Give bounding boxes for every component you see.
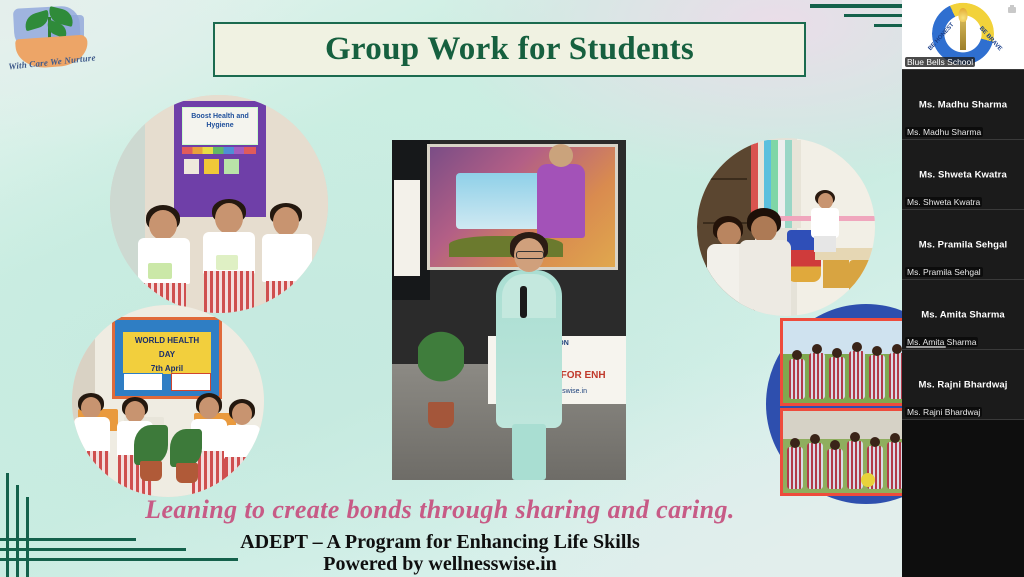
board-sign: Boost Health and Hygiene [182,107,258,145]
poster-date: 7th April [123,360,211,374]
student-uniform-bottom [814,236,836,252]
decor-line [844,14,902,17]
page-title: Group Work for Students [215,24,804,75]
participant-tile-pramila-sehgal[interactable]: Ms. Pramila Sehgal Ms. Pramila Sehgal [902,210,1024,280]
slide-caption-program: ADEPT – A Program for Enhancing Life Ski… [0,531,880,554]
board-square [184,159,199,174]
student-figure [222,399,262,497]
mute-icon[interactable] [1007,5,1018,14]
student-head [125,401,145,423]
student-uniform-bottom [225,457,259,497]
presenter-trousers [512,424,546,480]
student-figure [889,353,902,399]
participant-name-center: Ms. Shweta Kwatra [902,169,1024,180]
participant-tile-amita-sharma[interactable]: Ms. Amita Sharma Ms. Amita Sharma [902,280,1024,350]
slide-caption-script: Leaning to create bonds through sharing … [0,495,880,525]
ball-icon [861,473,875,487]
with-care-we-nurture-logo: With Care We Nurture [4,1,100,85]
student-head [81,397,101,419]
plant-pot [176,463,198,483]
student-figure [809,190,841,252]
poster-subtitle: DAY [123,346,211,360]
collage-photo-top [780,318,902,406]
plant-pot [428,402,454,428]
participant-tile-madhu-sharma[interactable]: Ms. Madhu Sharma Ms. Madhu Sharma [902,70,1024,140]
noticeboard [394,180,420,276]
photo-world-health-day: WORLD HEALTH DAY 7th April [72,305,264,497]
presenter-dupatta [502,274,556,318]
shared-slide: With Care We Nurture Group Work for Stud… [0,0,902,577]
student-figure [849,351,865,399]
student-figure [809,353,825,399]
participant-name-label: Ms. Pramila Sehgal [905,267,983,277]
student-figure [787,447,803,489]
classroom-chair [849,260,875,294]
student-figure [887,442,902,489]
board-color-strip [182,147,256,154]
poster-card [171,373,211,391]
student-held-card [216,255,238,270]
slide-title-box: Group Work for Students [213,22,806,77]
flame-icon [959,8,968,22]
participant-name-label: Ms. Madhu Sharma [905,127,983,137]
screen-illustrated-person [537,164,585,238]
slide-caption-powered: Powered by wellnesswise.in [0,553,880,576]
mute-icon-body [1008,7,1016,13]
student-head [232,403,252,425]
participant-tile-shweta-kwatra[interactable]: Ms. Shweta Kwatra Ms. Shweta Kwatra [902,140,1024,210]
student-figure [789,359,805,399]
student-figure [827,449,843,489]
filmstrip-scrollbar[interactable] [906,346,946,348]
world-health-day-poster: WORLD HEALTH DAY 7th April [112,317,222,399]
presenter-figure [492,238,566,480]
student-figure [262,203,316,313]
photo-students-hygiene: Boost Health and Hygiene [110,95,328,313]
student-figure [72,393,112,497]
student-head [199,397,219,419]
board-square [224,159,239,174]
student-uniform-top [74,417,110,453]
photo-classroom [697,138,875,316]
potted-plant [134,425,168,465]
student-uniform-top [811,208,839,238]
poster-banner: WORLD HEALTH DAY 7th April [123,332,211,374]
participant-name-label: Ms. Shweta Kwatra [905,197,982,207]
student-figure [807,443,823,489]
student-uniform-top [224,425,260,459]
potted-plant [170,429,202,467]
board-sign-text: Boost Health and Hygiene [183,108,257,130]
decor-line [874,24,902,27]
student-head [818,193,833,209]
student-figure [829,357,845,399]
board-square [204,159,219,174]
student-head [717,222,741,246]
participant-name-center: Ms. Pramila Sehgal [902,239,1024,250]
participant-name-label: Blue Bells School [905,57,975,67]
participant-filmstrip[interactable]: BE HONEST BE BRAVE Blue Bells School Ms.… [902,0,1024,577]
presenter-glasses [516,251,544,259]
student-figure [136,205,192,313]
participant-tile-blue-bells-school[interactable]: BE HONEST BE BRAVE Blue Bells School [902,0,1024,70]
student-uniform-bottom [75,451,109,497]
participant-name-label: Ms. Rajni Bhardwaj [905,407,982,417]
potted-plant [418,330,464,406]
student-held-card [148,263,172,279]
decor-line [810,4,902,8]
student-figure [869,355,885,399]
collage-photo-bottom [780,408,902,496]
student-uniform-top [262,234,312,282]
student-head [273,207,299,236]
photo-collage [766,304,902,504]
student-figure [200,199,258,313]
student-head [149,210,177,240]
student-head [215,203,243,234]
participant-name-center: Ms. Rajni Bhardwaj [902,379,1024,390]
poster-title: WORLD HEALTH [123,332,211,346]
participant-tile-rajni-bhardwaj[interactable]: Ms. Rajni Bhardwaj Ms. Rajni Bhardwaj [902,350,1024,420]
student-figure [739,208,793,316]
poster-card [123,373,163,391]
participant-name-center: Ms. Amita Sharma [902,309,1024,320]
participant-name-center: Ms. Madhu Sharma [902,99,1024,110]
shelf-line [703,178,747,180]
student-uniform-bottom [266,281,308,313]
meeting-screen-share-view: With Care We Nurture Group Work for Stud… [0,0,1024,577]
photo-speaker: TRANSITION NG A PROGRAM FOR ENH www.well… [392,140,626,480]
plant-pot [140,461,162,481]
student-head [751,216,777,242]
microphone-icon [520,286,527,318]
